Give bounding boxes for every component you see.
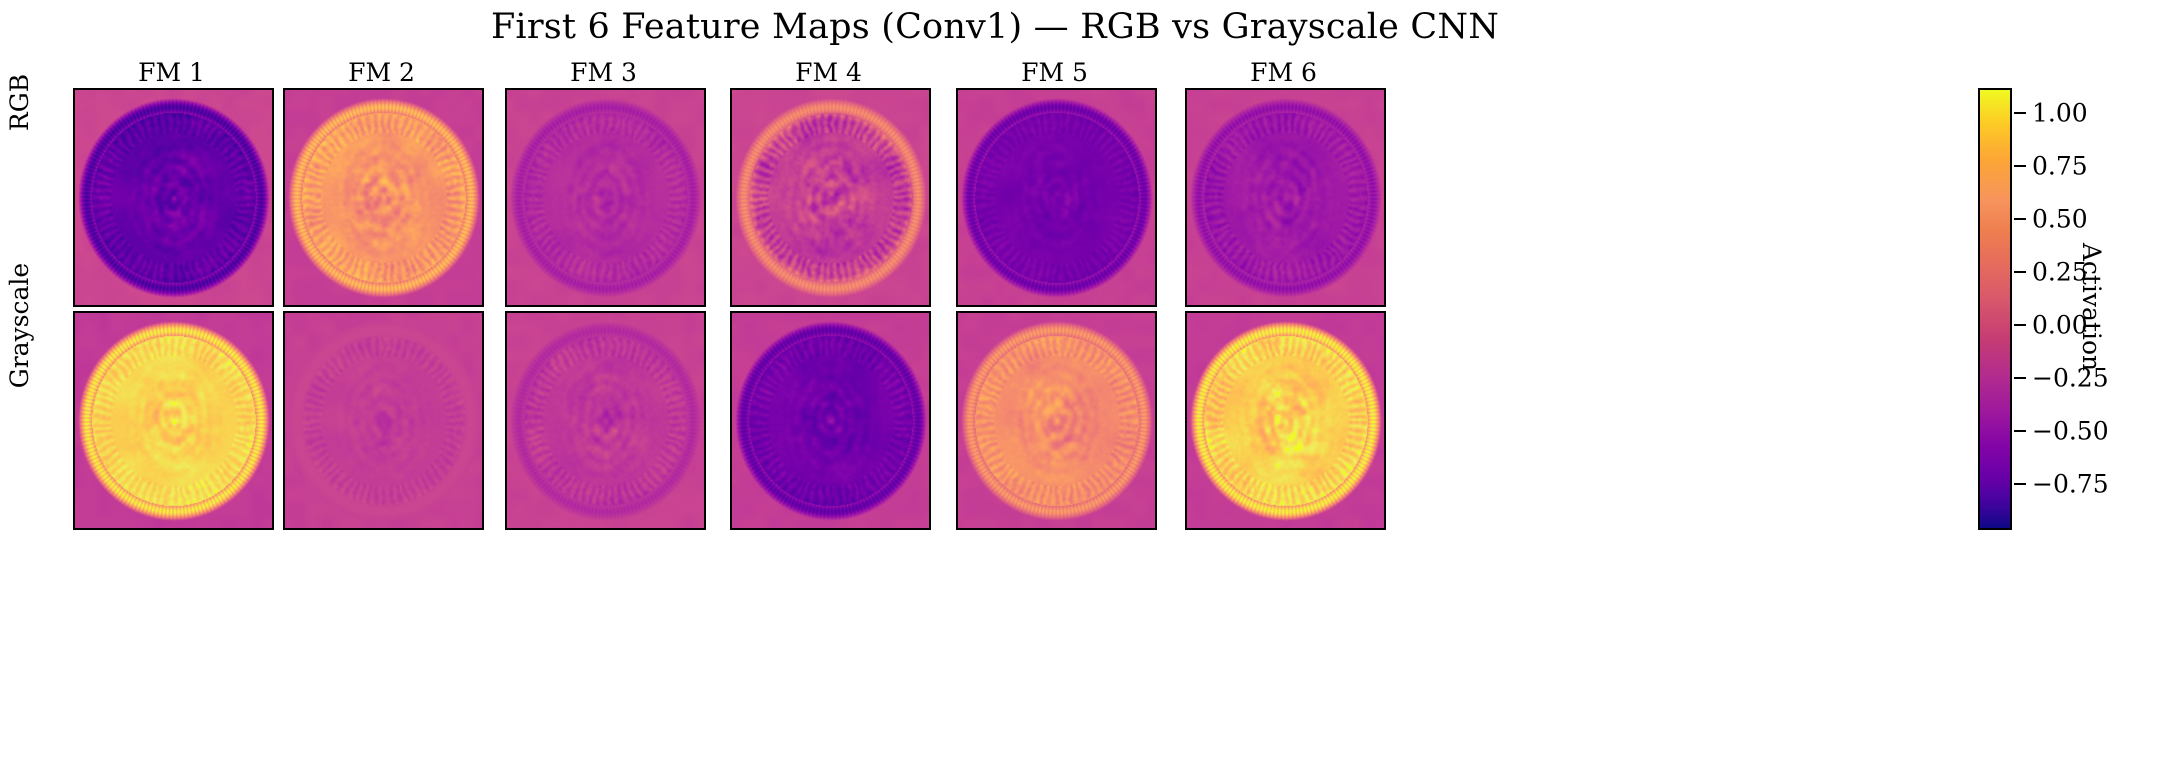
- feature-map-image: [507, 90, 704, 305]
- column-header-fm1: FM 1: [73, 58, 270, 87]
- feature-map-panel: [505, 88, 706, 307]
- colorbar-tick-mark: [2014, 112, 2026, 114]
- feature-map-image: [958, 90, 1155, 305]
- colorbar-axis-label: Activation: [2077, 88, 2106, 526]
- colorbar-tick-mark: [2014, 324, 2026, 326]
- colorbar-tick-mark: [2014, 218, 2026, 220]
- feature-map-image: [75, 90, 272, 305]
- figure-title: First 6 Feature Maps (Conv1) — RGB vs Gr…: [0, 8, 1990, 47]
- colorbar: 1.000.750.500.250.00−0.25−0.50−0.75: [1978, 88, 2012, 526]
- colorbar-tick-mark: [2014, 165, 2026, 167]
- feature-map-image: [732, 313, 929, 528]
- feature-map-image: [285, 90, 482, 305]
- row-label-grayscale: Grayscale: [5, 218, 34, 433]
- feature-map-image: [75, 313, 272, 528]
- feature-map-panel: [730, 311, 931, 530]
- colorbar-tick-mark: [2014, 483, 2026, 485]
- feature-map-image: [958, 313, 1155, 528]
- colorbar-gradient: [1978, 88, 2012, 530]
- column-header-fm6: FM 6: [1185, 58, 1382, 87]
- feature-map-image: [732, 90, 929, 305]
- column-header-fm2: FM 2: [283, 58, 480, 87]
- column-header-fm5: FM 5: [956, 58, 1153, 87]
- feature-map-panel: [956, 311, 1157, 530]
- feature-map-image: [285, 313, 482, 528]
- feature-map-panel: [283, 311, 484, 530]
- column-header-fm3: FM 3: [505, 58, 702, 87]
- colorbar-tick-mark: [2014, 271, 2026, 273]
- feature-map-panel: [73, 311, 274, 530]
- colorbar-tick-mark: [2014, 377, 2026, 379]
- feature-map-panel: [1185, 88, 1386, 307]
- feature-map-panel: [1185, 311, 1386, 530]
- feature-map-panel: [730, 88, 931, 307]
- column-header-fm4: FM 4: [730, 58, 927, 87]
- feature-map-panel: [283, 88, 484, 307]
- row-label-rgb: RGB: [5, 0, 34, 210]
- feature-map-image: [1187, 313, 1384, 528]
- feature-map-image: [507, 313, 704, 528]
- figure-canvas: First 6 Feature Maps (Conv1) — RGB vs Gr…: [0, 0, 2163, 758]
- feature-map-panel: [73, 88, 274, 307]
- feature-map-panel: [956, 88, 1157, 307]
- feature-map-panel: [505, 311, 706, 530]
- colorbar-tick-mark: [2014, 430, 2026, 432]
- feature-map-image: [1187, 90, 1384, 305]
